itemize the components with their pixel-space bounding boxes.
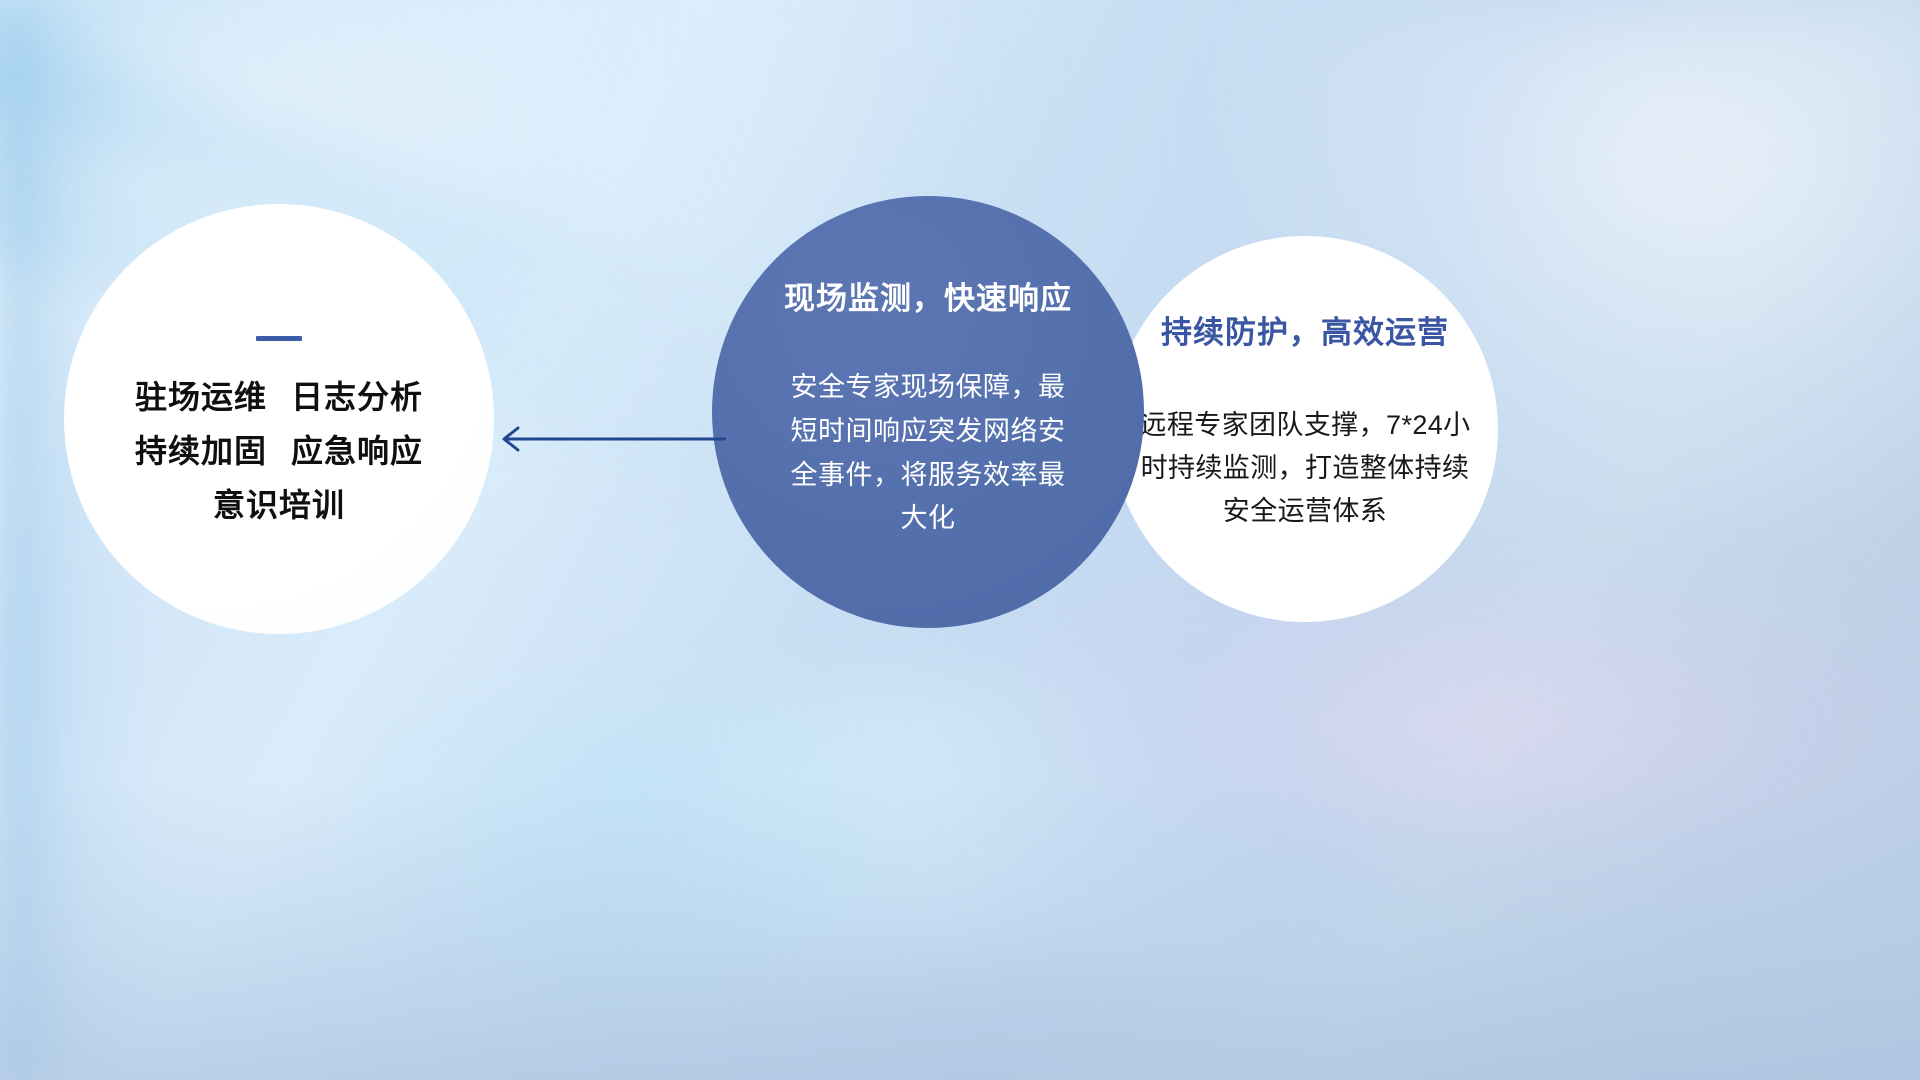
- capability-label: 驻场运维: [135, 379, 267, 415]
- continuous-protection-body: 远程专家团队支撑，7*24小时持续监测，打造整体持续安全运营体系: [1131, 404, 1479, 534]
- capability-label: 应急响应: [291, 433, 423, 469]
- onsite-monitoring-title: 现场监测，快速响应: [784, 282, 1072, 316]
- list-item: 持续加固应急响应: [135, 435, 423, 467]
- continuous-protection-circle: 持续防护，高效运营 远程专家团队支撑，7*24小时持续监测，打造整体持续安全运营…: [1112, 236, 1498, 622]
- continuous-protection-title: 持续防护，高效运营: [1161, 316, 1449, 350]
- capability-list: 驻场运维日志分析 持续加固应急响应 意识培训: [135, 381, 423, 521]
- list-item: 驻场运维日志分析: [135, 381, 423, 413]
- capability-label: 日志分析: [291, 379, 423, 415]
- flow-arrow-left-icon: [488, 404, 728, 474]
- capability-label: 持续加固: [135, 433, 267, 469]
- list-item: 意识培训: [213, 489, 345, 521]
- onsite-monitoring-content: 现场监测，快速响应 安全专家现场保障，最短时间响应突发网络安全事件，将服务效率最…: [712, 196, 1144, 628]
- capability-circle-content: 驻场运维日志分析 持续加固应急响应 意识培训: [64, 204, 494, 634]
- divider-dash-icon: [256, 336, 302, 341]
- onsite-monitoring-body: 安全专家现场保障，最短时间响应突发网络安全事件，将服务效率最大化: [778, 366, 1078, 541]
- continuous-protection-content: 持续防护，高效运营 远程专家团队支撑，7*24小时持续监测，打造整体持续安全运营…: [1112, 236, 1498, 622]
- capability-circle: 驻场运维日志分析 持续加固应急响应 意识培训: [64, 204, 494, 634]
- background-bottom-fade: [0, 780, 1920, 1080]
- capability-label: 意识培训: [213, 487, 345, 523]
- slide-canvas: 驻场运维日志分析 持续加固应急响应 意识培训 持续防护，高效运营 远程专家团队支…: [0, 0, 1920, 1080]
